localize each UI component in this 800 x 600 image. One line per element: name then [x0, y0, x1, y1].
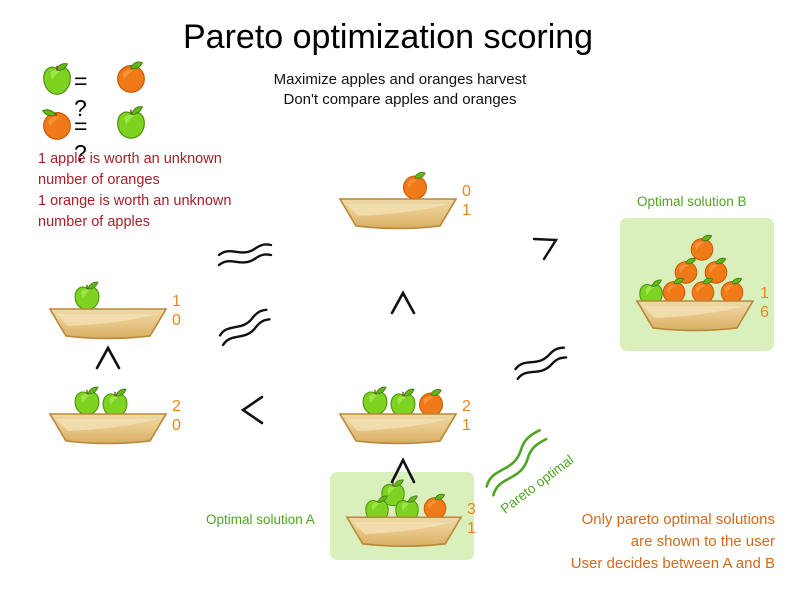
- score-oranges: 6: [760, 303, 769, 322]
- cmp-up-center: [388, 288, 418, 316]
- cmp-up-bottom: [388, 455, 418, 485]
- optimal-solution-a-label: Optimal solution A: [206, 512, 315, 527]
- note-line-3: 1 orange is worth an unknown: [38, 191, 231, 212]
- score-oranges: 1: [462, 416, 471, 435]
- subtitle-line-1: Maximize apples and oranges harvest: [250, 70, 550, 90]
- score-apples: 1: [172, 292, 181, 311]
- page-title: Pareto optimization scoring: [183, 18, 593, 57]
- score-pair: 2 1: [462, 397, 471, 435]
- note-line-4: number of apples: [38, 212, 231, 233]
- bowl-shape: [338, 196, 458, 232]
- orange-icon: [112, 58, 150, 96]
- pareto-diagram-canvas: Pareto optimization scoring Maximize app…: [0, 0, 800, 600]
- apple-icon: [38, 60, 76, 98]
- score-oranges: 1: [462, 201, 471, 220]
- bowl-shape: [338, 411, 458, 447]
- footer-line-1: Only pareto optimal solutions: [480, 509, 775, 531]
- cmp-squiggle-2: [213, 305, 279, 350]
- cmp-less: [237, 393, 267, 427]
- score-apples: 1: [760, 284, 769, 303]
- score-pair: 3 1: [467, 500, 476, 538]
- bowl-shape: [48, 411, 168, 447]
- score-pair: 0 1: [462, 182, 471, 220]
- subtitle-block: Maximize apples and oranges harvest Don'…: [250, 70, 550, 110]
- cmp-squiggle-3: [510, 344, 575, 385]
- score-pair: 1 0: [172, 292, 181, 330]
- bowl-shape: [48, 306, 168, 342]
- orange-icon: [38, 105, 76, 143]
- apple-icon: [112, 103, 150, 141]
- cmp-less-rotated: [528, 233, 562, 267]
- note-line-1: 1 apple is worth an unknown: [38, 149, 231, 170]
- score-oranges: 0: [172, 311, 181, 330]
- score-apples: 0: [462, 182, 471, 201]
- footer-line-2: are shown to the user: [480, 531, 775, 553]
- note-line-2: number of oranges: [38, 170, 231, 191]
- score-apples: 2: [172, 397, 181, 416]
- score-apples: 2: [462, 397, 471, 416]
- unknown-value-note: 1 apple is worth an unknown number of or…: [38, 149, 231, 233]
- optimal-solution-b-label: Optimal solution B: [637, 194, 747, 209]
- score-pair: 2 0: [172, 397, 181, 435]
- cmp-squiggle-1: [216, 242, 276, 270]
- subtitle-line-2: Don't compare apples and oranges: [250, 90, 550, 110]
- score-pair: 1 6: [760, 284, 769, 322]
- cmp-up-left: [93, 343, 123, 371]
- bowl-shape: [345, 514, 463, 550]
- score-oranges: 1: [467, 519, 476, 538]
- score-apples: 3: [467, 500, 476, 519]
- bowl-shape: [632, 298, 758, 334]
- score-oranges: 0: [172, 416, 181, 435]
- footer-note: Only pareto optimal solutions are shown …: [480, 509, 775, 575]
- footer-line-3: User decides between A and B: [480, 553, 775, 575]
